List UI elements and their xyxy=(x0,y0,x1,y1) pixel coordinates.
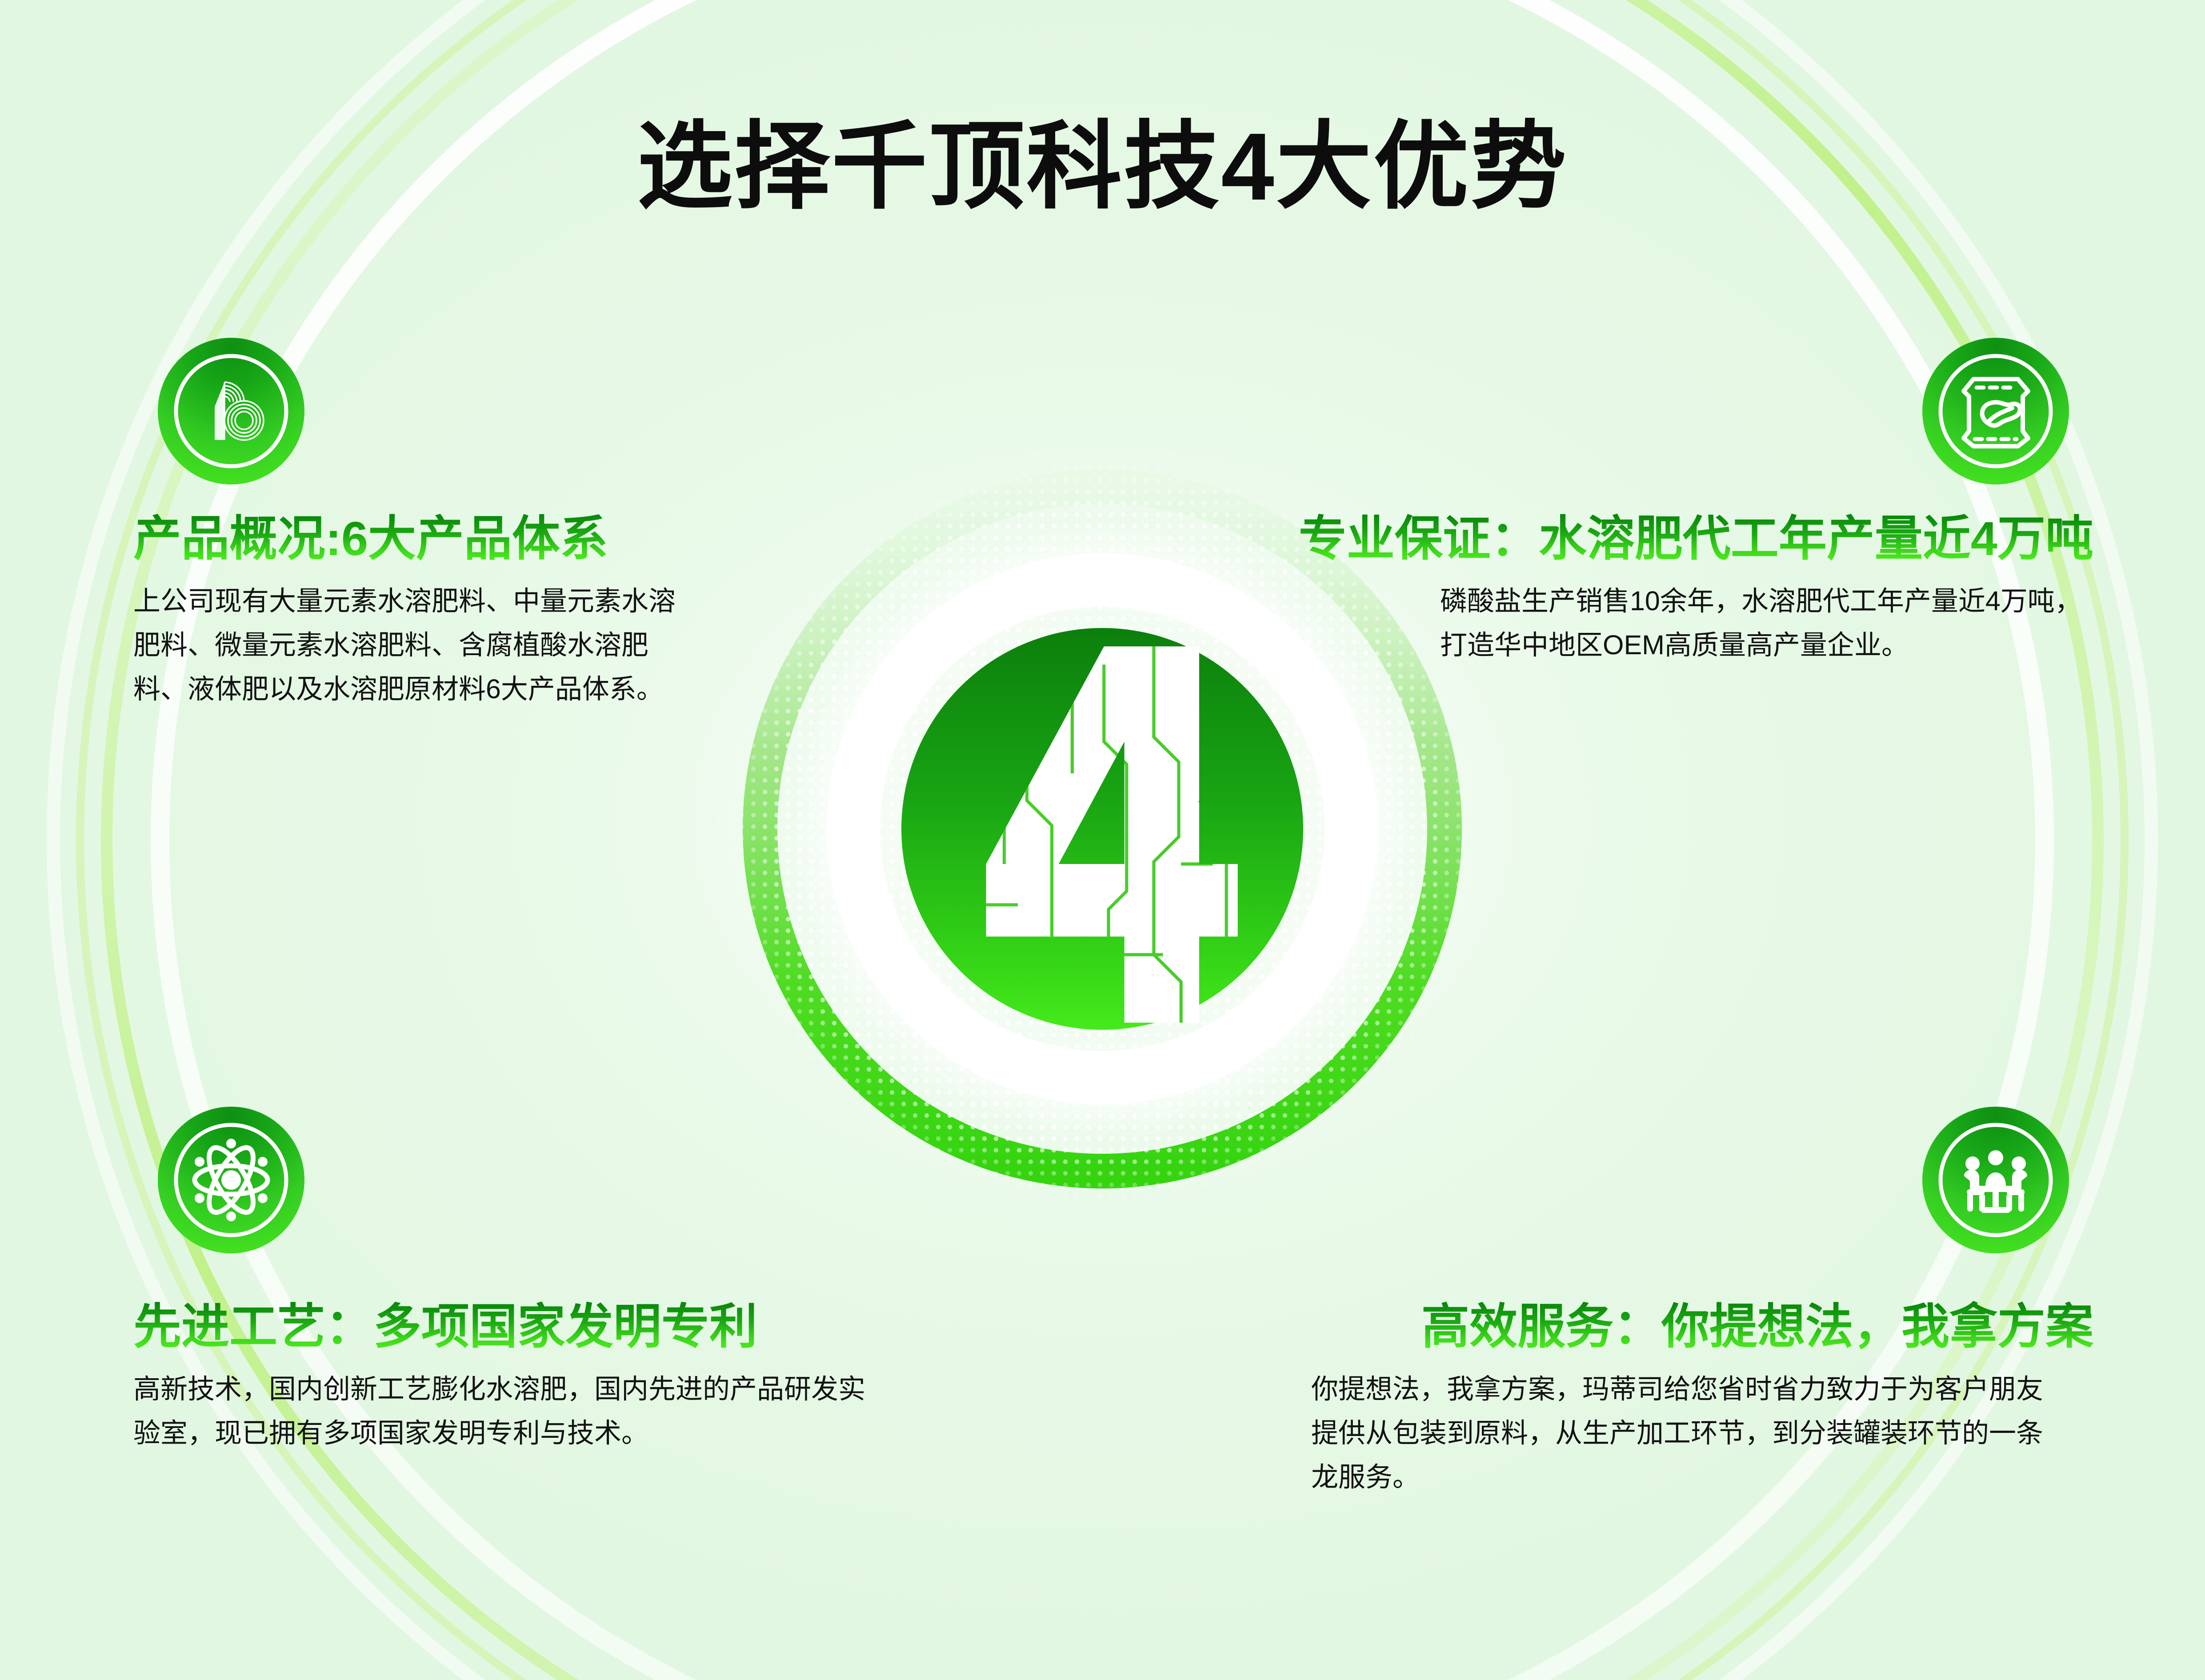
meeting-table-icon-svg xyxy=(1922,1107,2069,1253)
advantage-block-professional-guarantee: 专业保证：水溶肥代工年产量近4万吨 磷酸盐生产销售10余年，水溶肥代工年产量近4… xyxy=(1178,338,2093,667)
advantage-body: 上公司现有大量元素水溶肥料、中量元素水溶肥料、微量元素水溶肥料、含腐植酸水溶肥料… xyxy=(133,579,689,711)
advantage-heading: 产品概况:6大产品体系 xyxy=(133,512,707,566)
advantage-heading: 高效服务：你提想法，我拿方案 xyxy=(1311,1300,2093,1354)
atom-icon-svg xyxy=(158,1107,304,1253)
atom-icon xyxy=(158,1107,304,1253)
advantage-heading: 先进工艺：多项国家发明专利 xyxy=(133,1300,916,1354)
advantage-block-product-overview: 产品概况:6大产品体系 上公司现有大量元素水溶肥料、中量元素水溶肥料、微量元素水… xyxy=(133,338,707,711)
fertilizer-bag-icon-svg xyxy=(1922,338,2069,484)
page-title: 选择千顶科技4大优势 xyxy=(0,89,2205,227)
number-six-rings-icon-svg xyxy=(158,338,304,484)
advantage-body: 你提想法，我拿方案，玛蒂司给您省时省力致力于为客户朋友提供从包装到原料，从生产加… xyxy=(1311,1367,2067,1499)
advantage-heading: 专业保证：水溶肥代工年产量近4万吨 xyxy=(1178,512,2093,566)
meeting-table-icon xyxy=(1922,1107,2069,1253)
fertilizer-bag-icon xyxy=(1922,338,2069,484)
advantage-block-advanced-process: 先进工艺：多项国家发明专利 高新技术，国内创新工艺膨化水溶肥，国内先进的产品研发… xyxy=(133,1107,916,1455)
advantage-body: 磷酸盐生产销售10余年，水溶肥代工年产量近4万吨，打造华中地区OEM高质量高产量… xyxy=(1440,579,2093,667)
number-six-rings-icon xyxy=(158,338,304,484)
advantage-body: 高新技术，国内创新工艺膨化水溶肥，国内先进的产品研发实验室，现已拥有多项国家发明… xyxy=(133,1367,889,1455)
advantage-block-efficient-service: 高效服务：你提想法，我拿方案 你提想法，我拿方案，玛蒂司给您省时省力致力于为客户… xyxy=(1311,1107,2093,1499)
